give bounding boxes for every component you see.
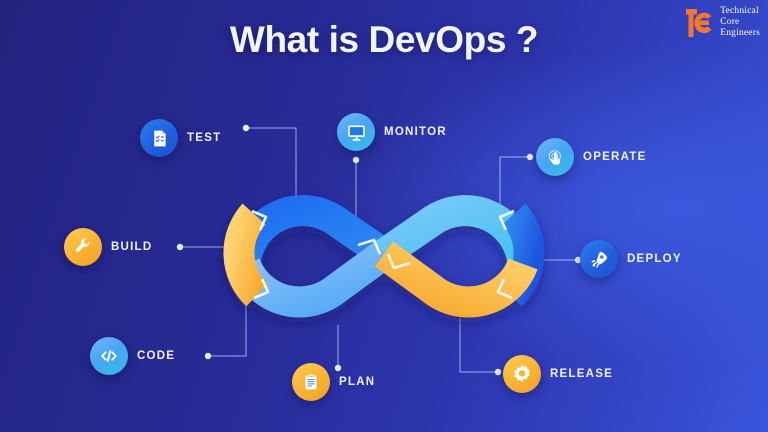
checklist-icon xyxy=(140,119,178,157)
clipboard-icon xyxy=(292,363,330,401)
stage-label-operate: OPERATE xyxy=(583,151,647,163)
stage-node-code[interactable]: CODE xyxy=(90,337,175,375)
rocket-icon xyxy=(580,240,618,278)
stage-node-release[interactable]: RELEASE xyxy=(503,355,613,393)
stage-label-build: BUILD xyxy=(111,241,152,253)
gear-icon xyxy=(503,355,541,393)
stage-node-deploy[interactable]: DEPLOY xyxy=(580,240,682,278)
stage-label-monitor: MONITOR xyxy=(384,126,447,138)
code-brackets-icon xyxy=(90,337,128,375)
infinity-loop-graphic xyxy=(208,168,560,340)
stage-node-plan[interactable]: PLAN xyxy=(292,363,375,401)
slide-canvas: Technical Core Engineers What is DevOps … xyxy=(0,0,768,432)
stage-label-test: TEST xyxy=(187,132,221,144)
stage-node-monitor[interactable]: MONITOR xyxy=(337,113,447,151)
page-title: What is DevOps ? xyxy=(0,19,768,61)
hand-pointer-icon xyxy=(536,138,574,176)
stage-node-test[interactable]: TEST xyxy=(140,119,221,157)
monitor-icon xyxy=(337,113,375,151)
stage-label-release: RELEASE xyxy=(550,368,613,380)
wrench-icon xyxy=(64,228,102,266)
stage-label-plan: PLAN xyxy=(339,376,375,388)
stage-label-code: CODE xyxy=(137,350,175,362)
stage-label-deploy: DEPLOY xyxy=(627,253,682,265)
stage-node-operate[interactable]: OPERATE xyxy=(536,138,647,176)
brand-name-line-1: Technical xyxy=(720,6,760,17)
stage-node-build[interactable]: BUILD xyxy=(64,228,152,266)
